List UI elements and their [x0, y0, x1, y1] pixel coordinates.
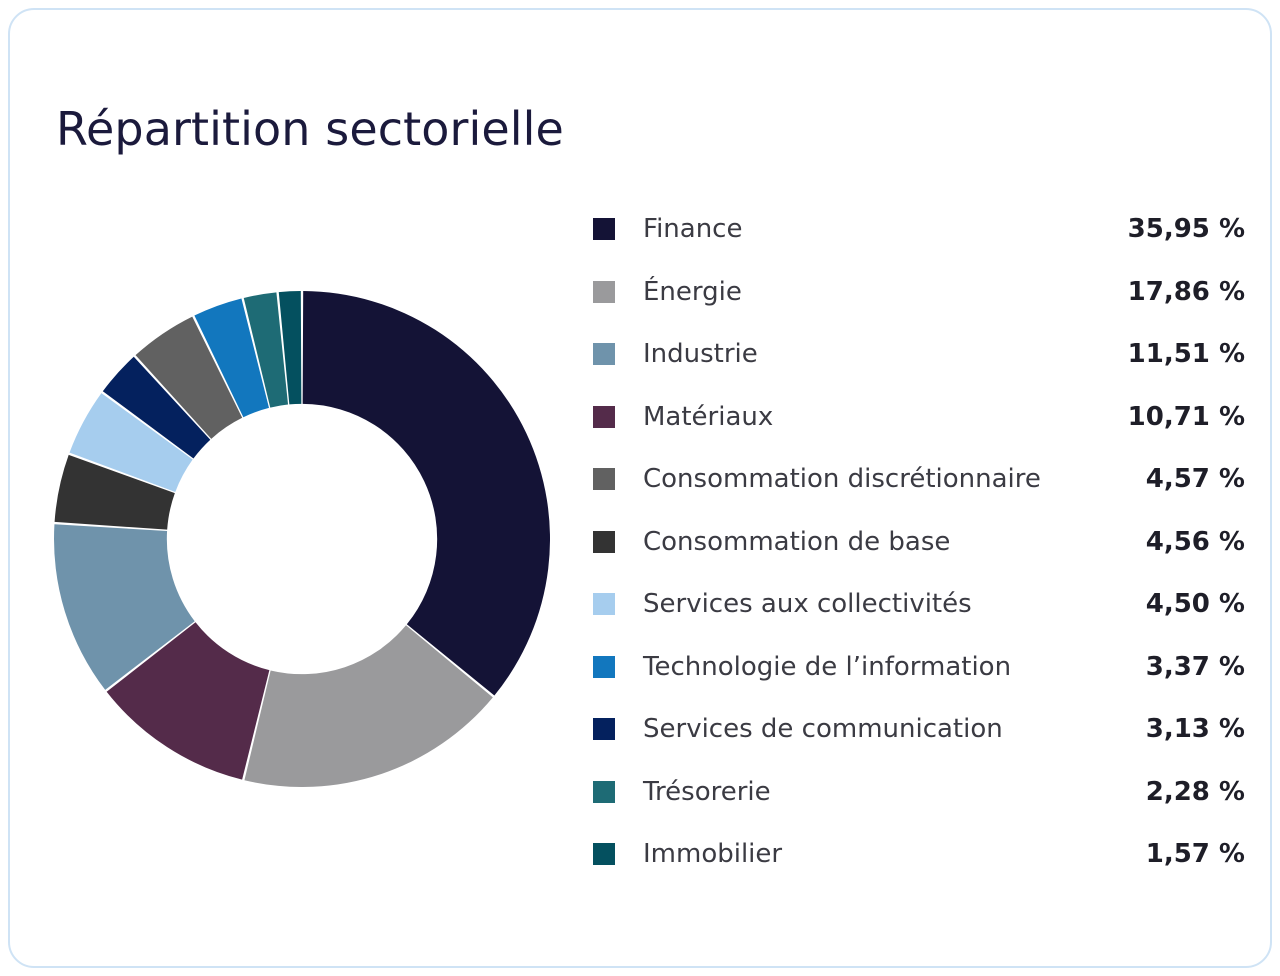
legend-item-value: 3,37 % — [1128, 652, 1245, 682]
page-title: Répartition sectorielle — [56, 104, 564, 155]
legend-item-label: Immobilier — [643, 839, 1128, 869]
legend-item-label: Matériaux — [643, 402, 1110, 432]
legend-item-label: Consommation discrétionnaire — [643, 464, 1128, 494]
chart-legend: Finance35,95 %Énergie17,86 %Industrie11,… — [593, 198, 1245, 886]
legend-color-swatch — [593, 468, 615, 490]
legend-item-label: Technologie de l’information — [643, 652, 1128, 682]
donut-chart — [54, 291, 550, 787]
legend-item-label: Consommation de base — [643, 527, 1128, 557]
legend-item[interactable]: Industrie11,51 % — [593, 323, 1245, 386]
legend-item-value: 2,28 % — [1128, 777, 1245, 807]
donut-chart-svg — [54, 291, 550, 787]
legend-item[interactable]: Services aux collectivités4,50 % — [593, 573, 1245, 636]
legend-item[interactable]: Services de communication3,13 % — [593, 698, 1245, 761]
legend-item[interactable]: Consommation de base4,56 % — [593, 511, 1245, 574]
legend-item-value: 11,51 % — [1110, 339, 1245, 369]
sector-allocation-card: Répartition sectorielle Finance35,95 %Én… — [8, 8, 1272, 968]
legend-color-swatch — [593, 343, 615, 365]
legend-item[interactable]: Consommation discrétionnaire4,57 % — [593, 448, 1245, 511]
legend-color-swatch — [593, 406, 615, 428]
legend-item[interactable]: Matériaux10,71 % — [593, 386, 1245, 449]
legend-color-swatch — [593, 531, 615, 553]
legend-item-value: 4,56 % — [1128, 527, 1245, 557]
legend-item[interactable]: Technologie de l’information3,37 % — [593, 636, 1245, 699]
legend-item-value: 4,57 % — [1128, 464, 1245, 494]
legend-item-value: 35,95 % — [1110, 214, 1245, 244]
legend-item-value: 3,13 % — [1128, 714, 1245, 744]
donut-slice[interactable] — [303, 291, 550, 696]
legend-color-swatch — [593, 781, 615, 803]
legend-item-label: Industrie — [643, 339, 1110, 369]
legend-item-label: Finance — [643, 214, 1110, 244]
legend-color-swatch — [593, 218, 615, 240]
legend-item-value: 17,86 % — [1110, 277, 1245, 307]
legend-color-swatch — [593, 593, 615, 615]
legend-color-swatch — [593, 843, 615, 865]
legend-item-value: 10,71 % — [1110, 402, 1245, 432]
legend-color-swatch — [593, 656, 615, 678]
legend-item[interactable]: Finance35,95 % — [593, 198, 1245, 261]
legend-item-label: Services de communication — [643, 714, 1128, 744]
legend-item[interactable]: Énergie17,86 % — [593, 261, 1245, 324]
legend-item-label: Services aux collectivités — [643, 589, 1128, 619]
legend-item-value: 4,50 % — [1128, 589, 1245, 619]
legend-item[interactable]: Trésorerie2,28 % — [593, 761, 1245, 824]
legend-color-swatch — [593, 718, 615, 740]
legend-item[interactable]: Immobilier1,57 % — [593, 823, 1245, 886]
legend-item-label: Énergie — [643, 277, 1110, 307]
donut-slice-group — [54, 291, 550, 787]
legend-color-swatch — [593, 281, 615, 303]
legend-item-label: Trésorerie — [643, 777, 1128, 807]
legend-item-value: 1,57 % — [1128, 839, 1245, 869]
